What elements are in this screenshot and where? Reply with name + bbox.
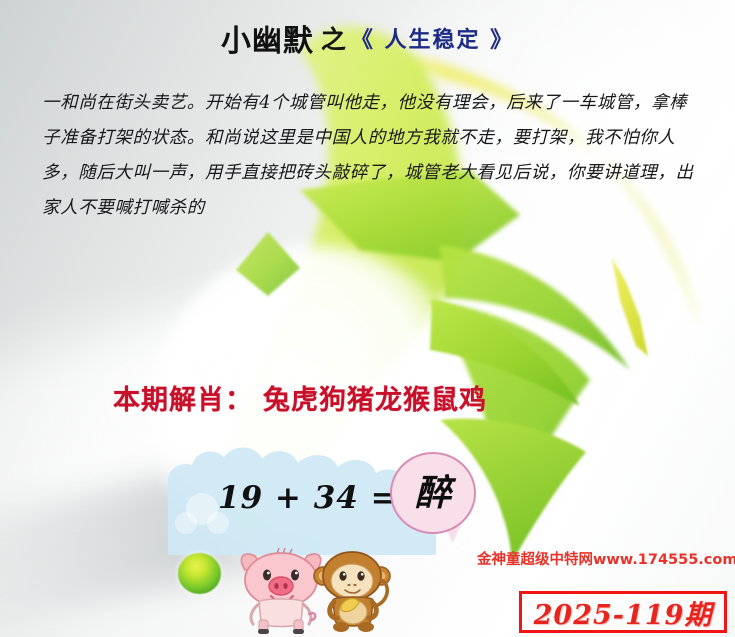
riddle-answer: 醉 [390, 464, 476, 516]
lottery-poster: 小幽默之《 人生稳定 》 一和尚在街头卖艺。开始有4个城管叫他走，他没有理会，后… [0, 0, 735, 637]
story-paragraph: 一和尚在街头卖艺。开始有4个城管叫他走，他没有理会，后来了一车城管，拿棒子准备打… [42, 86, 702, 226]
site-watermark: 金神童超级中特网www.174555.com [477, 548, 735, 569]
title-subtitle-text: 《 人生稳定 》 [351, 27, 514, 53]
poster-title: 小幽默之《 人生稳定 》 [0, 16, 735, 60]
forecast-zodiacs: 兔虎狗猪龙猴鼠鸡 [263, 385, 487, 416]
forecast-line: 本期解肖：兔虎狗猪龙猴鼠鸡 [113, 378, 487, 417]
issue-badge: 2025-119期 [519, 591, 727, 633]
title-main-text: 小幽默 [221, 24, 314, 59]
forecast-label: 本期解肖： [113, 385, 253, 416]
issue-number: 2025-119期 [534, 593, 713, 632]
monkey-mascot-icon [311, 550, 403, 634]
riddle-equation: 19 + 34 = [218, 480, 398, 516]
mascot-strip [175, 540, 390, 637]
title-particle-text: 之 [321, 25, 346, 54]
